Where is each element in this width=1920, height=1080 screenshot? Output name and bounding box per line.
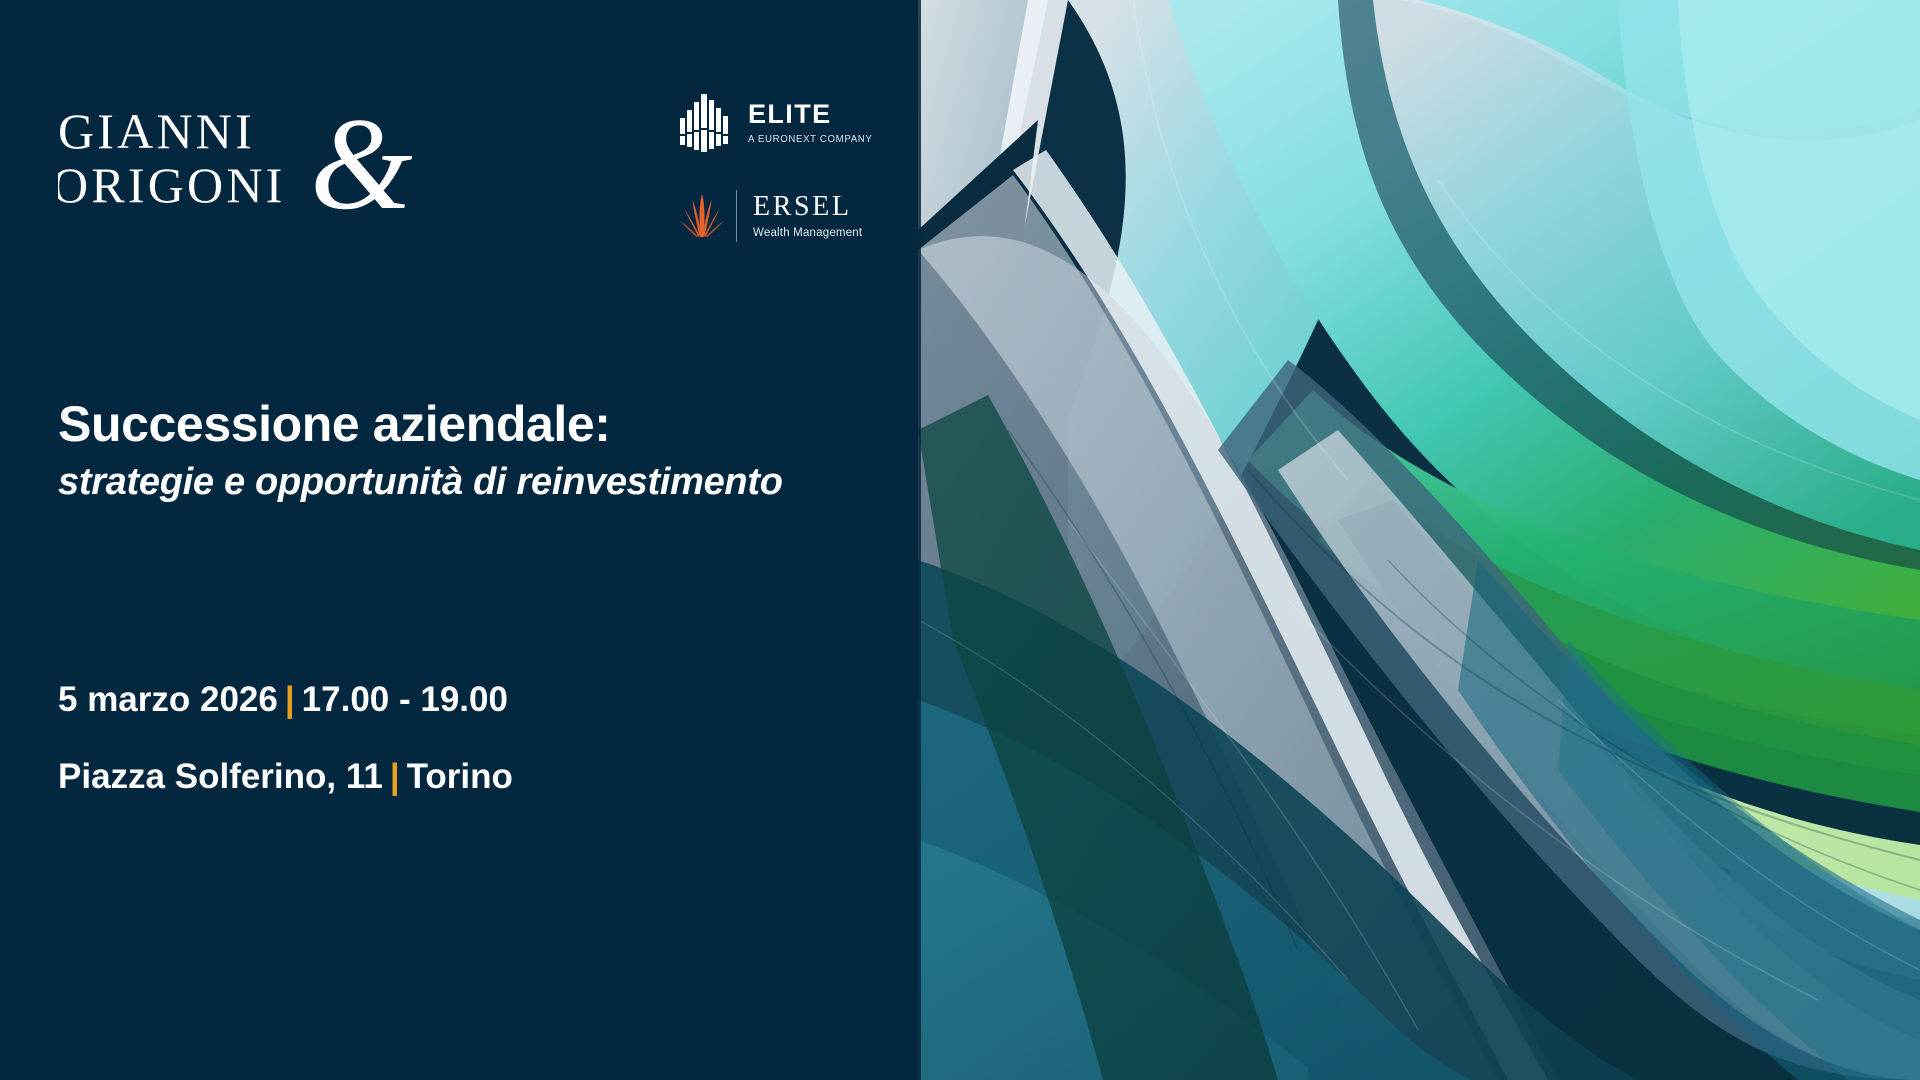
event-venue: Piazza Solferino, 11 xyxy=(58,757,383,796)
svg-text:GIANNI: GIANNI xyxy=(58,103,255,159)
partner-logo-elite: ELITE A EURONEXT COMPANY xyxy=(680,92,883,154)
event-time: 17.00 - 19.00 xyxy=(302,680,508,719)
ersel-divider xyxy=(736,190,737,242)
event-city: Torino xyxy=(407,757,513,796)
event-date: 5 marzo 2026 xyxy=(58,680,278,719)
elite-bars-icon xyxy=(680,92,734,154)
svg-text:&: & xyxy=(310,96,413,226)
partner-tagline-ersel: Wealth Management xyxy=(753,228,862,240)
partner-logos: ELITE A EURONEXT COMPANY xyxy=(680,92,883,242)
partner-tagline-elite: A EURONEXT COMPANY xyxy=(748,134,873,145)
event-subtitle: strategie e opportunità di reinvestiment… xyxy=(58,461,888,505)
event-title: Successione aziendale: xyxy=(58,398,888,451)
partner-name-elite: ELITE xyxy=(748,101,883,128)
ersel-fan-icon xyxy=(680,192,724,240)
left-content-panel: GIANNI ORIGONI & xyxy=(0,0,918,1080)
event-datetime-line: 5 marzo 2026|17.00 - 19.00 xyxy=(58,682,513,717)
gianni-origoni-logo: GIANNI ORIGONI & xyxy=(58,96,478,226)
event-location-line: Piazza Solferino, 11|Torino xyxy=(58,759,513,794)
event-title-block: Successione aziendale: strategie e oppor… xyxy=(58,398,888,505)
event-announcement-slide: GIANNI ORIGONI & xyxy=(0,0,1920,1080)
partner-name-ersel: ERSEL xyxy=(753,193,862,221)
abstract-artwork-image xyxy=(918,0,1920,1080)
event-details: 5 marzo 2026|17.00 - 19.00 Piazza Solfer… xyxy=(58,682,513,794)
svg-text:ORIGONI: ORIGONI xyxy=(58,157,285,213)
partner-logo-ersel: ERSEL Wealth Management xyxy=(680,190,883,242)
location-separator: | xyxy=(383,757,407,796)
datetime-separator: | xyxy=(278,680,302,719)
